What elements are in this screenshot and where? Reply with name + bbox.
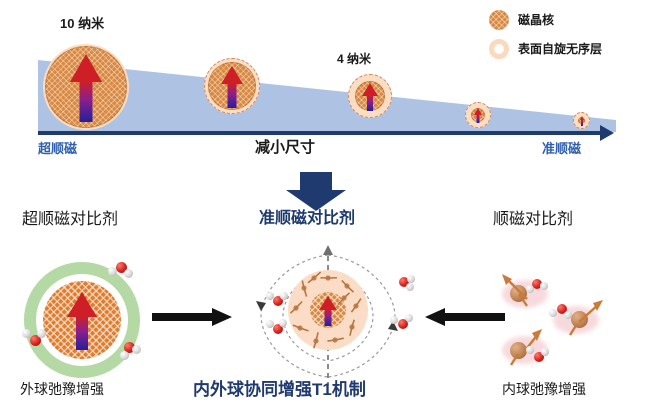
water-molecule [549, 304, 573, 321]
filled-hatched-circle-icon [489, 10, 509, 30]
size-label-10nm: 10 纳米 [60, 17, 104, 30]
bottom-panel-mechanism: 超顺磁对比剂 外球弛豫增强 [0, 186, 656, 417]
left-to-center-arrow-icon [152, 308, 232, 326]
water-molecule [393, 275, 417, 292]
water-molecule [526, 346, 550, 363]
axis-label-decreasing-size: 减小尺寸 [255, 140, 315, 155]
quasi-paramagnetic-particle [288, 270, 368, 350]
right-caption-inner-sphere: 内球弛豫增强 [502, 382, 586, 396]
hollow-ring-icon [489, 39, 509, 59]
particle-10nm [43, 44, 129, 130]
axis-label-superparamagnetic: 超顺磁 [38, 142, 77, 155]
water-molecule [266, 319, 290, 336]
water-molecule [22, 329, 48, 347]
water-molecule [266, 292, 290, 309]
center-caption-t1-mechanism: 内外球协同增强T1机制 [193, 381, 366, 398]
size-axis-line [38, 131, 608, 135]
axis-label-quasi-paramagnetic: 准顺磁 [542, 142, 581, 155]
right-to-center-arrow-icon [425, 308, 505, 326]
paramagnetic-ion-complex [498, 326, 558, 370]
water-molecule [108, 262, 134, 280]
left-caption-outer-sphere: 外球弛豫增强 [20, 382, 104, 396]
water-molecule [390, 314, 414, 331]
water-molecule [118, 342, 144, 360]
spin-arrow-icon [221, 66, 243, 108]
surface-spin-arrows [288, 270, 368, 350]
figure-canvas: 10 纳米 4 纳米 [0, 0, 656, 417]
right-title-paramagnetic-agent: 顺磁对比剂 [493, 212, 573, 228]
particle-2 [204, 58, 260, 114]
left-title-superparamagnetic-agent: 超顺磁对比剂 [22, 212, 118, 228]
legend-label-magnetic-core: 磁晶核 [518, 14, 554, 26]
spin-arrow-icon [474, 108, 482, 123]
legend-item-magnetic-core: 磁晶核 [489, 10, 554, 30]
spin-arrow-icon [70, 54, 102, 122]
legend-item-spin-disorder-layer: 表面自旋无序层 [489, 39, 602, 59]
magnetic-core [43, 281, 121, 359]
center-title-quasi-paramagnetic-agent: 准顺磁对比剂 [259, 211, 355, 227]
size-axis-arrowhead-icon [600, 125, 614, 141]
top-panel-size-gradient: 10 纳米 4 纳米 [0, 0, 656, 170]
spin-arrow-icon [67, 292, 97, 350]
particle-4 [465, 102, 491, 128]
particle-5 [573, 112, 590, 129]
size-label-4nm: 4 纳米 [337, 53, 371, 65]
legend-label-spin-disorder-layer: 表面自旋无序层 [518, 43, 602, 55]
water-molecule [526, 278, 550, 295]
spin-arrow-icon [579, 116, 585, 125]
spin-arrow-icon [362, 83, 378, 111]
particle-4nm [348, 74, 392, 118]
